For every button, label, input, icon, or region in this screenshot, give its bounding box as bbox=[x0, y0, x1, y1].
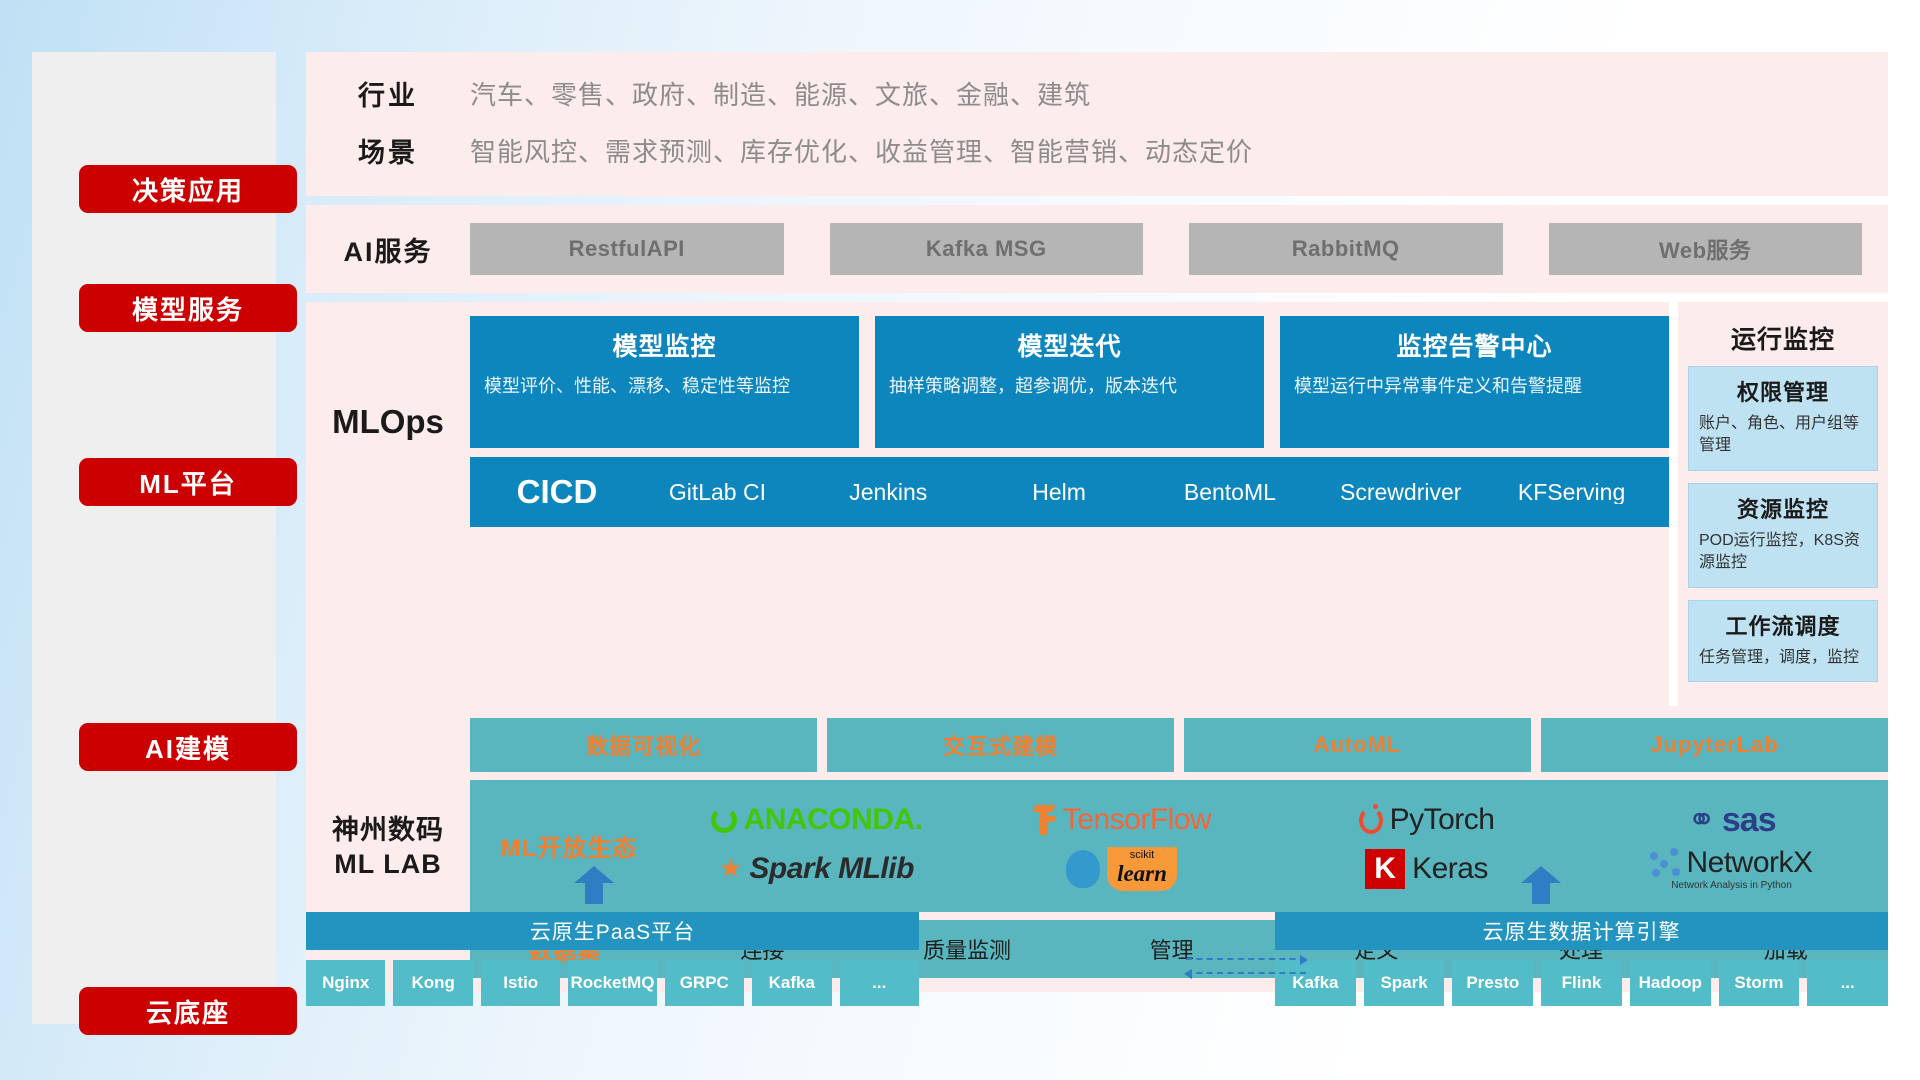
mlops-card-model-monitoring[interactable]: 模型监控 模型评价、性能、漂移、稳定性等监控 bbox=[470, 316, 859, 448]
industry-label: 行业 bbox=[306, 74, 470, 113]
scenario-label: 场景 bbox=[306, 131, 470, 170]
monitor-card-workflow[interactable]: 工作流调度 任务管理，调度，监控 bbox=[1688, 600, 1878, 682]
mlops-card-alert-center[interactable]: 监控告警中心 模型运行中异常事件定义和告警提醒 bbox=[1280, 316, 1669, 448]
card-title: 模型迭代 bbox=[889, 327, 1250, 363]
cicd-item-bentoml[interactable]: BentoML bbox=[1144, 481, 1315, 504]
arrow-up-paas-icon bbox=[574, 866, 614, 904]
card-desc: 模型评价、性能、漂移、稳定性等监控 bbox=[484, 373, 845, 399]
paas-chip-grpc[interactable]: GRPC bbox=[665, 960, 744, 1006]
ai-service-chip-kafka-msg[interactable]: Kafka MSG bbox=[830, 223, 1144, 275]
sas-logo: ⚭ sas bbox=[1579, 800, 1884, 840]
compute-chip-presto[interactable]: Presto bbox=[1452, 960, 1533, 1006]
card-desc: 模型运行中异常事件定义和告警提醒 bbox=[1294, 373, 1655, 399]
cloud-base-section: 云原生PaaS平台 Nginx Kong Istio RocketMQ GRPC… bbox=[306, 884, 1888, 1024]
networkx-nodes-icon bbox=[1650, 848, 1680, 878]
monitor-card-resource[interactable]: 资源监控 POD运行监控，K8S资源监控 bbox=[1688, 483, 1878, 588]
card-title: 资源监控 bbox=[1699, 492, 1867, 524]
ml-ecosystem-logo-row-1: ANACONDA. TensorFlow PyTorch bbox=[664, 800, 1884, 840]
scikit-blob-icon bbox=[1066, 850, 1100, 888]
cicd-item-gitlab-ci[interactable]: GitLab CI bbox=[632, 481, 803, 504]
decision-app-band: 行业 汽车、零售、政府、制造、能源、文旅、金融、建筑 场景 智能风控、需求预测、… bbox=[306, 52, 1888, 196]
anaconda-logo: ANACONDA. bbox=[664, 803, 969, 837]
mlops-and-monitor-row: MLOps 模型监控 模型评价、性能、漂移、稳定性等监控 模型迭代 抽样策略调整… bbox=[306, 302, 1888, 706]
spark-star-icon: ★ bbox=[719, 853, 742, 884]
tool-jupyterlab[interactable]: JupyterLab bbox=[1541, 718, 1888, 772]
card-title: 模型监控 bbox=[484, 327, 845, 363]
dashed-arrow-left-icon bbox=[1186, 972, 1306, 974]
ai-service-chip-rabbitmq[interactable]: RabbitMQ bbox=[1189, 223, 1503, 275]
ai-service-chip-restfulapi[interactable]: RestfulAPI bbox=[470, 223, 784, 275]
rail-badge-label: 模型服务 bbox=[132, 290, 244, 327]
networkx-logo-text: NetworkX bbox=[1686, 846, 1812, 880]
industry-row: 行业 汽车、零售、政府、制造、能源、文旅、金融、建筑 bbox=[306, 74, 1888, 113]
anaconda-ring-icon bbox=[711, 807, 737, 833]
tensorflow-logo-text: TensorFlow bbox=[1063, 803, 1211, 837]
mlops-band: MLOps 模型监控 模型评价、性能、漂移、稳定性等监控 模型迭代 抽样策略调整… bbox=[306, 302, 1669, 706]
cicd-item-screwdriver[interactable]: Screwdriver bbox=[1315, 481, 1486, 504]
rail-badge-label: 云底座 bbox=[146, 993, 230, 1030]
card-title: 监控告警中心 bbox=[1294, 327, 1655, 363]
pytorch-logo-text: PyTorch bbox=[1390, 803, 1495, 837]
card-desc: 账户、角色、用户组等管理 bbox=[1699, 413, 1867, 458]
paas-chip-istio[interactable]: Istio bbox=[481, 960, 560, 1006]
main-column: 行业 汽车、零售、政府、制造、能源、文旅、金融、建筑 场景 智能风控、需求预测、… bbox=[306, 52, 1888, 992]
ai-service-label: AI服务 bbox=[306, 230, 470, 269]
paas-chip-kong[interactable]: Kong bbox=[393, 960, 472, 1006]
paas-chip-kafka[interactable]: Kafka bbox=[752, 960, 831, 1006]
cicd-row: CICD GitLab CI Jenkins Helm BentoML Scre… bbox=[470, 457, 1669, 527]
compute-engine-title: 云原生数据计算引擎 bbox=[1275, 912, 1888, 950]
ai-service-chip-web-service[interactable]: Web服务 bbox=[1549, 223, 1863, 275]
rail-badge-model-service[interactable]: 模型服务 bbox=[79, 284, 297, 332]
mlops-card-model-iteration[interactable]: 模型迭代 抽样策略调整，超参调优，版本迭代 bbox=[875, 316, 1264, 448]
spark-mllib-logo-text: Spark MLlib bbox=[749, 852, 914, 886]
card-desc: 抽样策略调整，超参调优，版本迭代 bbox=[889, 373, 1250, 399]
rail-badge-decision-app[interactable]: 决策应用 bbox=[79, 165, 297, 213]
card-title: 工作流调度 bbox=[1699, 609, 1867, 641]
card-desc: 任务管理，调度，监控 bbox=[1699, 647, 1867, 669]
pytorch-flame-icon bbox=[1359, 807, 1383, 834]
tensorflow-logo: TensorFlow bbox=[969, 803, 1274, 837]
architecture-diagram: 决策应用 模型服务 ML平台 AI建模 云底座 行业 汽车、零售、政府、制造、能… bbox=[0, 0, 1920, 1080]
rail-badge-cloud-base[interactable]: 云底座 bbox=[79, 987, 297, 1035]
mlops-label: MLOps bbox=[306, 316, 470, 527]
compute-chip-hadoop[interactable]: Hadoop bbox=[1630, 960, 1711, 1006]
compute-chip-more[interactable]: ... bbox=[1807, 960, 1888, 1006]
paas-chip-more[interactable]: ... bbox=[840, 960, 919, 1006]
scenario-values: 智能风控、需求预测、库存优化、收益管理、智能营销、动态定价 bbox=[470, 132, 1253, 169]
ml-lab-label-line1: 神州数码 bbox=[332, 814, 444, 848]
cicd-item-kfserving[interactable]: KFServing bbox=[1486, 481, 1657, 504]
tensorflow-mark-icon bbox=[1032, 805, 1056, 835]
compute-chip-storm[interactable]: Storm bbox=[1719, 960, 1800, 1006]
paas-chip-rocketmq[interactable]: RocketMQ bbox=[568, 960, 656, 1006]
ml-lab-label-line2: ML LAB bbox=[334, 848, 442, 882]
tool-automl[interactable]: AutoML bbox=[1184, 718, 1531, 772]
bidirectional-link bbox=[1186, 946, 1306, 986]
keras-logo-text: Keras bbox=[1412, 852, 1488, 886]
runtime-monitor-panel: 运行监控 权限管理 账户、角色、用户组等管理 资源监控 POD运行监控，K8S资… bbox=[1678, 302, 1888, 706]
rail-badge-label: 决策应用 bbox=[132, 171, 244, 208]
sas-swirl-icon: ⚭ bbox=[1687, 800, 1715, 840]
compute-chip-flink[interactable]: Flink bbox=[1541, 960, 1622, 1006]
ai-service-chip-row: RestfulAPI Kafka MSG RabbitMQ Web服务 bbox=[470, 223, 1862, 275]
anaconda-logo-text: ANACONDA. bbox=[744, 803, 923, 837]
tool-data-visualization[interactable]: 数据可视化 bbox=[470, 718, 817, 772]
ml-lab-tool-row: 数据可视化 交互式建模 AutoML JupyterLab bbox=[470, 718, 1888, 772]
keras-k-icon: K bbox=[1365, 849, 1405, 889]
compute-chip-spark[interactable]: Spark bbox=[1364, 960, 1445, 1006]
arrow-up-compute-icon bbox=[1521, 866, 1561, 904]
pytorch-logo: PyTorch bbox=[1274, 803, 1579, 837]
card-title: 权限管理 bbox=[1699, 375, 1867, 407]
rail-badge-label: ML平台 bbox=[139, 464, 237, 501]
card-desc: POD运行监控，K8S资源监控 bbox=[1699, 530, 1867, 575]
cicd-label: CICD bbox=[482, 473, 632, 511]
spark-mllib-logo: ★ Spark MLlib bbox=[664, 852, 969, 886]
compute-engine-group: 云原生数据计算引擎 Kafka Spark Presto Flink Hadoo… bbox=[1275, 912, 1888, 1006]
mlops-card-row: 模型监控 模型评价、性能、漂移、稳定性等监控 模型迭代 抽样策略调整，超参调优，… bbox=[470, 316, 1669, 448]
paas-title: 云原生PaaS平台 bbox=[306, 912, 919, 950]
industry-values: 汽车、零售、政府、制造、能源、文旅、金融、建筑 bbox=[470, 75, 1091, 112]
scenario-row: 场景 智能风控、需求预测、库存优化、收益管理、智能营销、动态定价 bbox=[306, 131, 1888, 170]
rail-badge-label: AI建模 bbox=[145, 729, 231, 766]
left-rail: 决策应用 模型服务 ML平台 AI建模 云底座 bbox=[32, 52, 276, 1024]
rail-badge-ml-platform[interactable]: ML平台 bbox=[79, 458, 297, 506]
rail-badge-ai-modeling[interactable]: AI建模 bbox=[79, 723, 297, 771]
paas-group: 云原生PaaS平台 Nginx Kong Istio RocketMQ GRPC… bbox=[306, 912, 919, 1006]
monitor-card-permission[interactable]: 权限管理 账户、角色、用户组等管理 bbox=[1688, 366, 1878, 471]
cicd-item-jenkins[interactable]: Jenkins bbox=[803, 481, 974, 504]
cicd-item-helm[interactable]: Helm bbox=[974, 481, 1145, 504]
dashed-arrow-right-icon bbox=[1186, 958, 1306, 960]
runtime-monitor-title: 运行监控 bbox=[1688, 314, 1878, 366]
tool-interactive-modeling[interactable]: 交互式建模 bbox=[827, 718, 1174, 772]
sas-logo-text: sas bbox=[1722, 801, 1776, 840]
ai-service-band: AI服务 RestfulAPI Kafka MSG RabbitMQ Web服务 bbox=[306, 205, 1888, 293]
paas-chip-nginx[interactable]: Nginx bbox=[306, 960, 385, 1006]
